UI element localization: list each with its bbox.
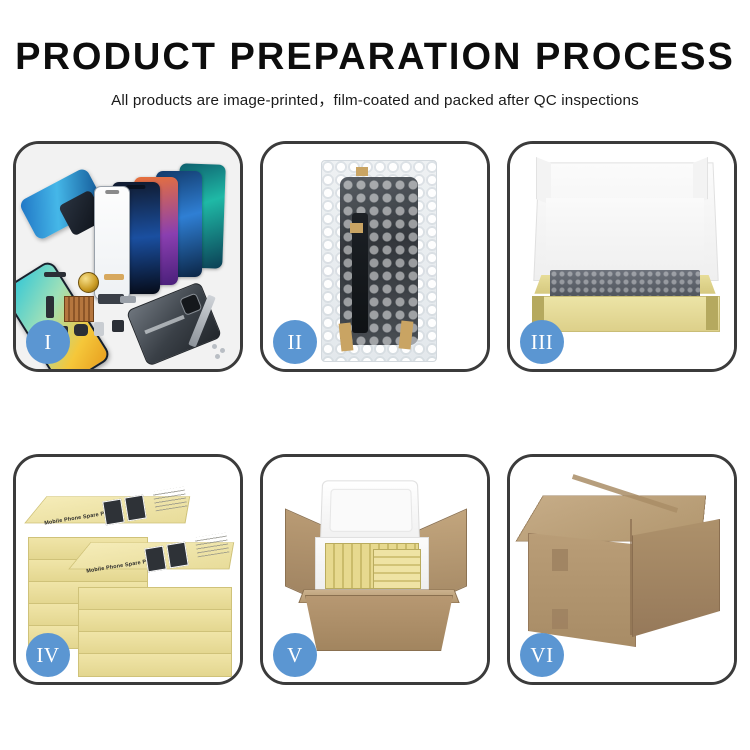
- step-badge-1: I: [26, 320, 70, 364]
- vibration-motor-icon: [78, 272, 99, 293]
- carton-tape-icon: [552, 549, 568, 571]
- phone-glass-front-icon: [94, 186, 130, 300]
- stacked-box: [78, 631, 232, 655]
- component-icon: [120, 296, 136, 303]
- flex-cable-icon: [46, 296, 54, 318]
- tape-icon: [356, 167, 368, 176]
- stacked-box: [78, 609, 232, 633]
- box-corner-right-icon: [706, 296, 718, 330]
- product-preparation-process-infographic: PRODUCT PREPARATION PROCESS All products…: [0, 0, 750, 750]
- page-title: PRODUCT PREPARATION PROCESS: [0, 38, 750, 78]
- camera-icon: [179, 293, 202, 316]
- step-panel-1: I: [13, 141, 243, 372]
- step-panel-3: III: [507, 141, 737, 372]
- component-icon: [94, 322, 104, 336]
- stacked-box: [78, 587, 232, 611]
- flex-cable-icon: [104, 274, 124, 280]
- step-panel-5: V: [260, 454, 490, 685]
- box-window-icon: [124, 495, 147, 522]
- step-badge-3: III: [520, 320, 564, 364]
- screw-tray-icon: [64, 296, 94, 322]
- page-subtitle: All products are image-printed，film-coat…: [0, 88, 750, 110]
- step-panel-2: II: [260, 141, 490, 372]
- carton-body-icon: [305, 595, 453, 651]
- label-strip: [144, 315, 184, 334]
- step-panel-4: Mobile Phone Spare Parts Mobile Phone Sp…: [13, 454, 243, 685]
- component-icon: [112, 320, 124, 332]
- header: PRODUCT PREPARATION PROCESS All products…: [0, 0, 750, 110]
- foam-lid-icon: [320, 480, 420, 543]
- notch-icon: [126, 185, 145, 189]
- carton-edge: [630, 519, 632, 635]
- flex-cable-icon: [44, 272, 66, 277]
- box-front-icon: [532, 296, 720, 332]
- process-steps-grid: I II: [13, 141, 737, 685]
- carton-tape-icon: [552, 609, 568, 629]
- step-badge-6: VI: [520, 633, 564, 677]
- foam-sheet-icon: [546, 198, 704, 270]
- step-badge-4: IV: [26, 633, 70, 677]
- carton-front-icon: [528, 533, 636, 647]
- packed-yellow-boxes-icon: [373, 549, 421, 589]
- step-badge-2: II: [273, 320, 317, 364]
- step-panel-6: VI: [507, 454, 737, 685]
- step-badge-5: V: [273, 633, 317, 677]
- notch-icon: [105, 190, 119, 194]
- tape-icon: [399, 320, 414, 349]
- foam-lid-inner: [329, 489, 412, 532]
- box-window-icon: [144, 546, 167, 573]
- bubble-wrap-bag-icon: [321, 160, 437, 362]
- stacked-box: [78, 653, 232, 677]
- component-icon: [74, 324, 88, 336]
- screws-icon: [212, 344, 217, 349]
- box-window-icon: [102, 499, 125, 526]
- box-window-icon: [166, 542, 189, 569]
- tape-icon: [350, 223, 363, 233]
- carton-side-icon: [632, 519, 720, 637]
